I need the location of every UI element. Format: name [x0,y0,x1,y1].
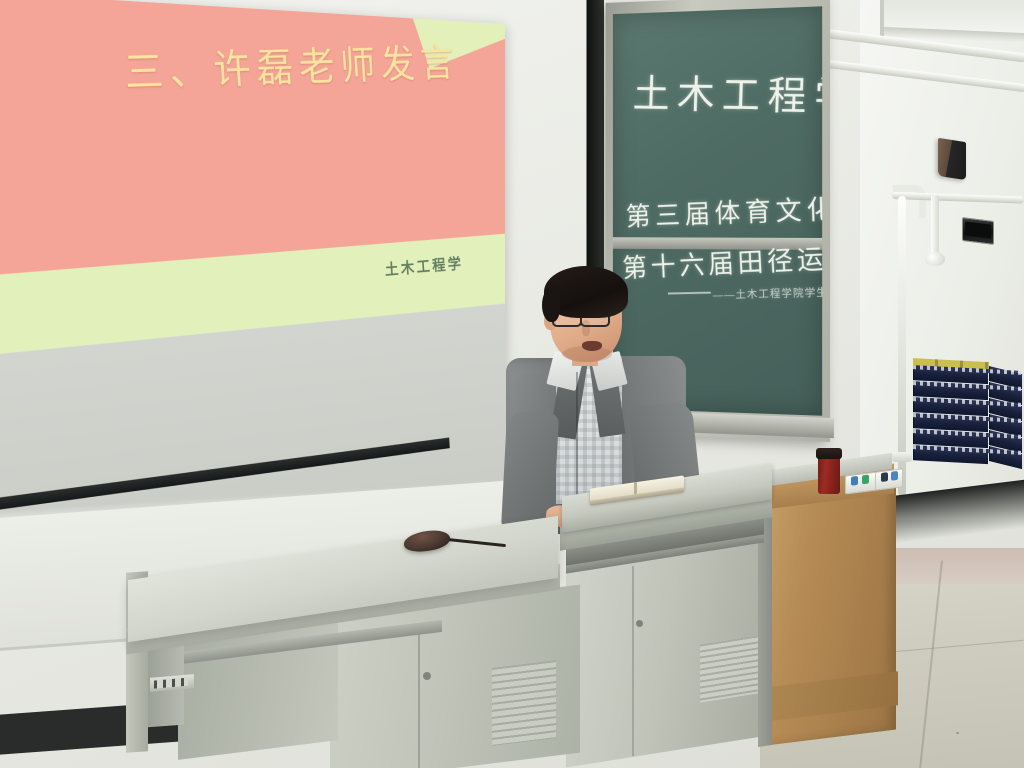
floor-mark [956,732,959,734]
marker-cap-blue-2 [891,471,898,481]
blackboard-heading: 土木工程学院 [632,63,822,124]
phone-pocket-organizer[interactable] [913,365,1021,465]
marker-pack [875,468,903,490]
marker-cap-green [862,474,869,484]
chalk-box [845,472,877,495]
wall-speaker-icon [938,138,966,180]
conduit-drop-pipe [931,196,939,258]
soffit-corner [880,0,884,40]
podium-side-panel [758,515,772,747]
wall-mounted-device-icon[interactable] [962,217,994,245]
thermos-cap [816,448,842,459]
conduit-pipe-vertical [898,196,906,496]
blackboard-signature: ——土木工程学院学生会 [712,284,822,303]
marker-cap-blue [851,476,858,486]
conduit-floor-box [892,452,912,462]
conduit-end-cap [925,252,945,266]
podium-door-seam [632,566,634,756]
podium-door-knob[interactable] [636,620,643,627]
console-door-knob[interactable] [423,672,431,680]
podium-vent-louvers [700,635,758,702]
projection-screen: 三、许磊老师发言 土木工程学 [0,0,505,512]
console-vent-louvers [492,660,556,746]
mouth [582,341,602,351]
console-door-seam [418,630,420,768]
blackboard-line-1: 第三届体育文化节暨 [625,185,822,234]
classroom-photo-scene: 三、许磊老师发言 土木工程学 土木工程学院 第三届体育文化节暨 第十六届田径运动… [0,0,1024,768]
hair-sideburn [542,288,560,322]
marker-cap-dark [881,472,888,482]
